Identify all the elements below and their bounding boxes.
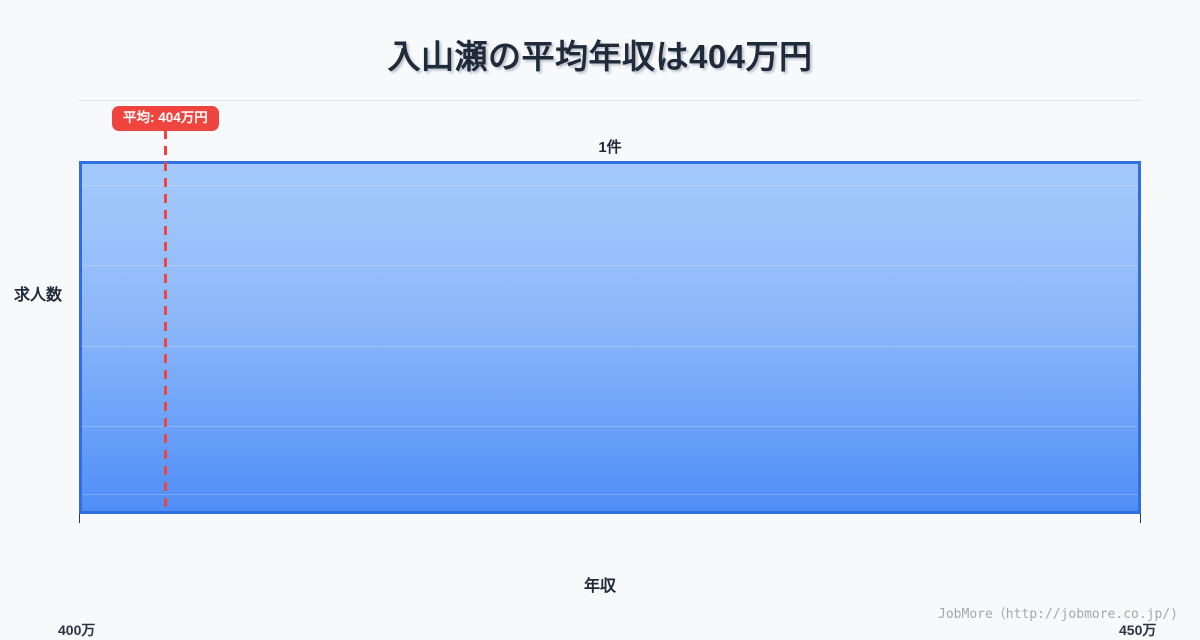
chart-title: 入山瀬の平均年収は404万円	[0, 30, 1200, 78]
average-value-badge: 平均: 404万円	[112, 106, 219, 131]
plot-top-rule	[79, 100, 1141, 101]
watermark: JobMore（http://jobmore.co.jp/)	[938, 603, 1178, 622]
gridline	[82, 265, 1138, 266]
average-line-marker	[164, 130, 167, 514]
x-axis-tick-right	[1140, 514, 1141, 523]
x-axis-tick-left	[79, 514, 80, 523]
gridline	[82, 426, 1138, 427]
x-axis-title: 年収	[0, 572, 1200, 596]
histogram-bar	[79, 161, 1141, 514]
x-axis-tick-label-right: 450万	[1119, 620, 1156, 640]
gridline	[82, 494, 1138, 495]
gridline	[82, 185, 1138, 186]
bar-value-label: 1件	[79, 136, 1141, 157]
gridline	[82, 346, 1138, 347]
x-axis-tick-label-left: 400万	[58, 620, 95, 640]
y-axis-title: 求人数	[14, 281, 62, 305]
plot-area: 1件 平均: 404万円 400万 450万	[79, 100, 1141, 514]
